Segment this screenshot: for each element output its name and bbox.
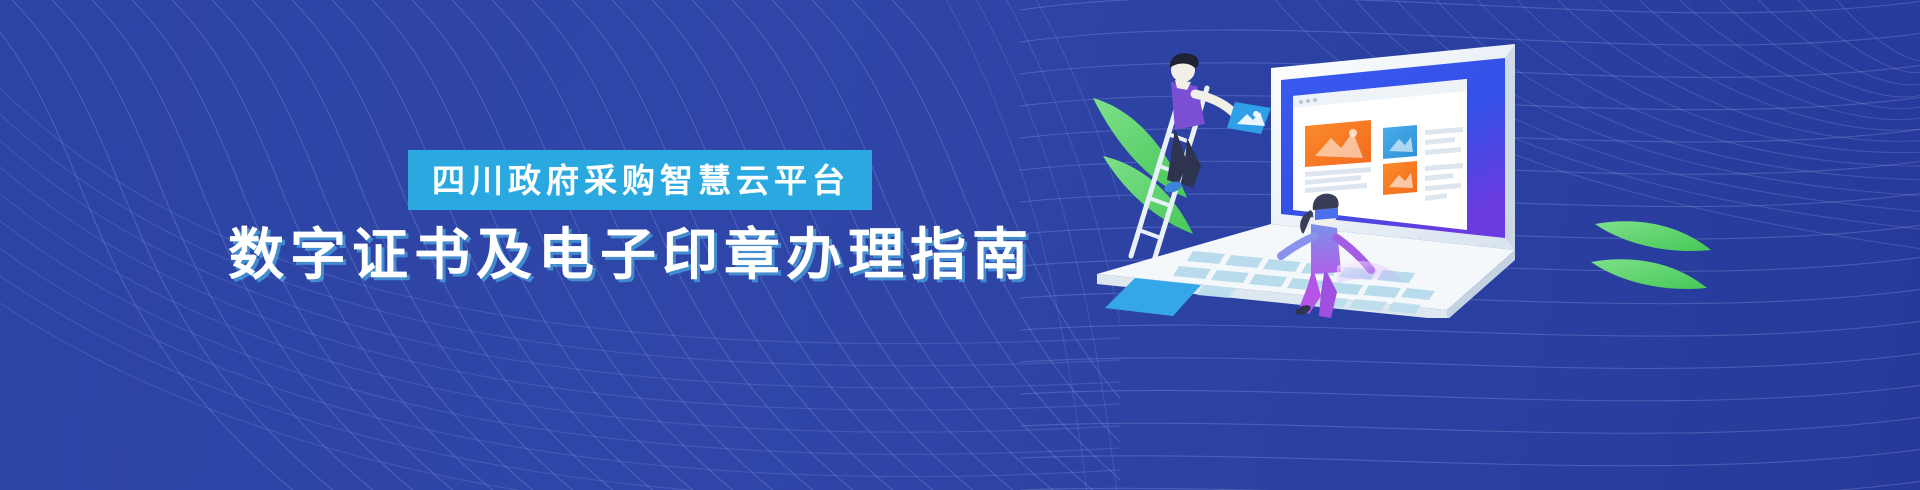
hero-illustration <box>1075 38 1735 318</box>
screen-card-orange-small <box>1383 161 1417 195</box>
leaf-right-lower <box>1591 259 1707 289</box>
screen-card-orange-large <box>1305 120 1371 167</box>
screen-card-blue-small <box>1383 125 1417 159</box>
leaf-right-upper <box>1595 221 1711 251</box>
floating-card-icon <box>1227 102 1271 134</box>
banner-root: 四川政府采购智慧云平台 数字证书及电子印章办理指南 <box>0 0 1920 490</box>
page-title: 数字证书及电子印章办理指南 <box>228 222 1018 288</box>
platform-badge: 四川政府采购智慧云平台 <box>408 150 872 210</box>
headline-group: 四川政府采购智慧云平台 数字证书及电子印章办理指南 <box>228 150 1018 288</box>
